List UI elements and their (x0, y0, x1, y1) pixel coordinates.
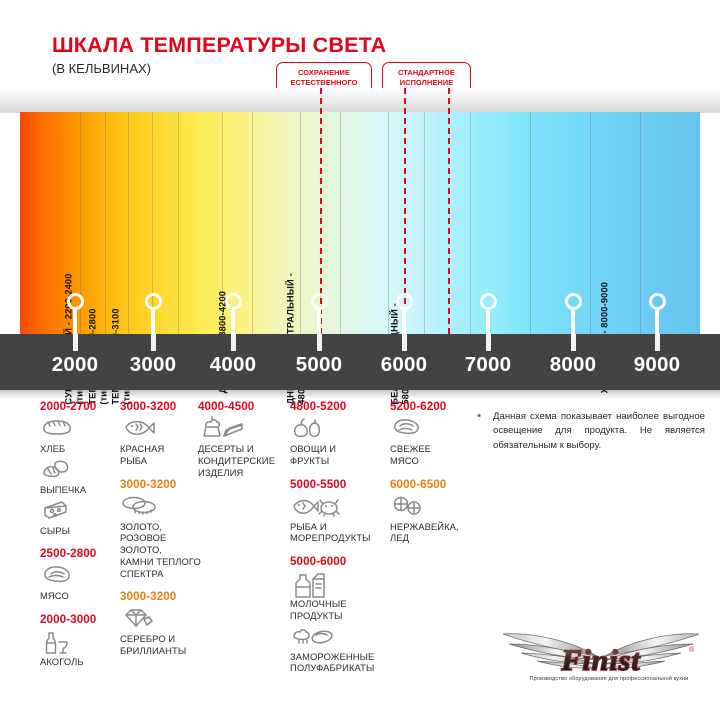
legend-item-label: МОЛОЧНЫЕ ПРОДУКТЫ (290, 598, 390, 622)
scale-marker-9000 (649, 293, 666, 310)
scale-label-2000: 2000 (52, 353, 98, 377)
red-fish-icon (120, 416, 202, 442)
legend-item: ХЛЕБ (40, 416, 122, 455)
scale-label-7000: 7000 (465, 353, 511, 377)
legend-item-label: ДЕСЕРТЫ ИКОНДИТЕРСКИЕИЗДЕЛИЯ (198, 443, 290, 478)
legend-group: 3000-3200КРАСНАЯРЫБА (120, 400, 202, 467)
legend-item: РЫБА ИМОРЕПРОДУКТЫ (290, 494, 390, 545)
legend-item: СЕРЕБРО ИБРИЛЛИАНТЫ (120, 606, 202, 657)
steel-ice-icon (390, 494, 476, 520)
legend-item-label: КРАСНАЯРЫБА (120, 443, 202, 467)
scale-marker-2000 (67, 293, 84, 310)
legend-item: ЗАМОРОЖЕННЫЕПОЛУФАБРИКАТЫ (290, 624, 390, 675)
scale-label-5000: 5000 (296, 353, 342, 377)
legend-column-1: 2000-2700ХЛЕБВЫПЕЧКАСЫРЫ2500-2800МЯСО200… (40, 400, 122, 679)
legend-group: 4800-5200ОВОЩИ ИФРУКТЫ (290, 400, 390, 467)
legend-item-label: ХЛЕБ (40, 443, 122, 455)
legend-item: НЕРЖАВЕЙКА,ЛЕД (390, 494, 476, 545)
callout-line-1: СТАНДАРТНОЕ (387, 68, 466, 78)
scale-tick (317, 334, 322, 351)
legend-column-3: 4000-4500ДЕСЕРТЫ ИКОНДИТЕРСКИЕИЗДЕЛИЯ (198, 400, 290, 489)
seafood-icon (290, 494, 390, 520)
legend-range-heading: 3000-3200 (120, 400, 202, 413)
legend-item: МОЛОЧНЫЕ ПРОДУКТЫ (290, 571, 390, 622)
legend-item-label: АКОГОЛЬ (40, 656, 122, 668)
band-separator (105, 112, 106, 334)
legend-group: 2500-2800МЯСО (40, 547, 122, 602)
band-separator (340, 112, 341, 334)
legend-item-label: СЕРЕБРО ИБРИЛЛИАНТЫ (120, 633, 202, 657)
legend-item-label: РЫБА ИМОРЕПРОДУКТЫ (290, 521, 390, 545)
legend-range-heading: 5000-5500 (290, 478, 390, 491)
scale-label-8000: 8000 (550, 353, 596, 377)
legend-range-heading: 4800-5200 (290, 400, 390, 413)
legend-group: 2000-3000АКОГОЛЬ (40, 613, 122, 668)
alcohol-icon (40, 629, 122, 655)
callout-line-2: ИСПОЛНЕНИЕ (387, 78, 466, 88)
band-separator (640, 112, 641, 334)
legend-group: 5200-6200СВЕЖЕЕМЯСО (390, 400, 476, 467)
legend-column-5: 5200-6200СВЕЖЕЕМЯСО6000-6500НЕРЖАВЕЙКА,Л… (390, 400, 476, 555)
scale-tick (151, 334, 156, 351)
frozen-icon (290, 624, 390, 650)
legend-item-label: СЫРЫ (40, 525, 122, 537)
fresh-meat-icon (390, 416, 476, 442)
legend-range-heading: 2500-2800 (40, 547, 122, 560)
page-title: ШКАЛА ТЕМПЕРАТУРЫ СВЕТА (52, 33, 386, 58)
color-temperature-spectrum: СУПЕР ТЕПЛЫЙ - 2200-2400 (тип К 2400) ТЕ… (20, 112, 700, 334)
legend-item: ЗОЛОТО,РОЗОВОЕ ЗОЛОТО,КАМНИ ТЕПЛОГОСПЕКТ… (120, 494, 202, 580)
legend-group: 2000-2700ХЛЕБВЫПЕЧКАСЫРЫ (40, 400, 122, 536)
band-separator (590, 112, 591, 334)
callout-line-1: СОХРАНЕНИЕ (281, 68, 367, 78)
scale-tick (571, 334, 576, 351)
band-separator (252, 112, 253, 334)
legend-item-label: ВЫПЕЧКА (40, 484, 122, 496)
legend-item: ВЫПЕЧКА (40, 457, 122, 496)
legend-range-heading: 6000-6500 (390, 478, 476, 491)
scale-marker-4000 (225, 293, 242, 310)
legend-range-heading: 5000-6000 (290, 555, 390, 568)
scale-tick (655, 334, 660, 351)
legend-item-label: МЯСО (40, 590, 122, 602)
scale-marker-7000 (480, 293, 497, 310)
cheese-icon (40, 498, 122, 524)
legend-group: 3000-3200ЗОЛОТО,РОЗОВОЕ ЗОЛОТО,КАМНИ ТЕП… (120, 478, 202, 580)
scale-marker-8000 (565, 293, 582, 310)
scale-tick (402, 334, 407, 351)
legend-group: 4000-4500ДЕСЕРТЫ ИКОНДИТЕРСКИЕИЗДЕЛИЯ (198, 400, 290, 478)
legend-group: 3000-3200СЕРЕБРО ИБРИЛЛИАНТЫ (120, 590, 202, 657)
registered-mark: ® (689, 646, 695, 654)
legend-item: СВЕЖЕЕМЯСО (390, 416, 476, 467)
legend-item: МЯСО (40, 563, 122, 602)
legend-range-heading: 3000-3200 (120, 590, 202, 603)
legend-group: 6000-6500НЕРЖАВЕЙКА,ЛЕД (390, 478, 476, 545)
scale-label-9000: 9000 (634, 353, 680, 377)
band-separator (470, 112, 471, 334)
diamond-icon (120, 606, 202, 632)
legend-column-4: 4800-5200ОВОЩИ ИФРУКТЫ5000-5500РЫБА ИМОР… (290, 400, 390, 685)
footnote: * Данная схема показывает наиболее выгод… (477, 410, 705, 453)
band-separator (530, 112, 531, 334)
legend-item-label: ЗОЛОТО,РОЗОВОЕ ЗОЛОТО,КАМНИ ТЕПЛОГОСПЕКТ… (120, 521, 202, 580)
footnote-text: Данная схема показывает наиболее выгодно… (493, 410, 705, 453)
legend-item: СЫРЫ (40, 498, 122, 537)
page-subtitle: (В КЕЛЬВИНАХ) (52, 61, 151, 76)
fruits-icon (290, 416, 390, 442)
band-separator (424, 112, 425, 334)
dessert-icon (198, 416, 290, 442)
bread-icon (40, 416, 122, 442)
legend-item: ДЕСЕРТЫ ИКОНДИТЕРСКИЕИЗДЕЛИЯ (198, 416, 290, 478)
svg-text:Finist: Finist (560, 644, 641, 677)
annotation-dashed-line (448, 88, 450, 334)
scale-bar-shadow (0, 390, 720, 399)
band-separator (178, 112, 179, 334)
scale-label-6000: 6000 (381, 353, 427, 377)
meat-icon (40, 563, 122, 589)
band-separator (388, 112, 389, 334)
legend-range-heading: 4000-4500 (198, 400, 290, 413)
legend-item: КРАСНАЯРЫБА (120, 416, 202, 467)
scale-tick (231, 334, 236, 351)
legend-item-label: ЗАМОРОЖЕННЫЕПОЛУФАБРИКАТЫ (290, 651, 390, 675)
scale-label-3000: 3000 (130, 353, 176, 377)
legend-group: 5000-5500РЫБА ИМОРЕПРОДУКТЫ (290, 478, 390, 545)
finist-wings-icon: Finist ® (497, 618, 705, 680)
legend-item-label: ОВОЩИ ИФРУКТЫ (290, 443, 390, 467)
kelvin-scale-bar: 2000 3000 4000 5000 6000 7000 8000 9000 (0, 334, 720, 390)
legend-item-label: НЕРЖАВЕЙКА,ЛЕД (390, 521, 476, 545)
footnote-marker: * (477, 412, 481, 424)
header-band (0, 88, 720, 113)
scale-marker-3000 (145, 293, 162, 310)
scale-marker-6000 (396, 293, 413, 310)
scale-marker-5000 (311, 293, 328, 310)
legend-item: АКОГОЛЬ (40, 629, 122, 668)
legend-item: ОВОЩИ ИФРУКТЫ (290, 416, 390, 467)
legend-range-heading: 3000-3200 (120, 478, 202, 491)
legend-range-heading: 2000-2700 (40, 400, 122, 413)
legend-range-heading: 5200-6200 (390, 400, 476, 413)
legend-item-label: СВЕЖЕЕМЯСО (390, 443, 476, 467)
legend-column-2: 3000-3200КРАСНАЯРЫБА3000-3200ЗОЛОТО,РОЗО… (120, 400, 202, 668)
gold-rings-icon (120, 494, 202, 520)
scale-label-4000: 4000 (210, 353, 256, 377)
callout-line-2: ЕСТЕСТВЕННОГО (281, 78, 367, 88)
legend-group: 5000-6000МОЛОЧНЫЕ ПРОДУКТЫЗАМОРОЖЕННЫЕПО… (290, 555, 390, 674)
band-separator (128, 112, 129, 334)
scale-tick (73, 334, 78, 351)
logo-tagline: Производство оборудования для профессион… (514, 676, 704, 682)
dairy-icon (290, 571, 390, 597)
pastry-icon (40, 457, 122, 483)
legend-range-heading: 2000-3000 (40, 613, 122, 626)
scale-tick (486, 334, 491, 351)
finist-logo: Finist ® Производство оборудования для п… (497, 618, 705, 698)
